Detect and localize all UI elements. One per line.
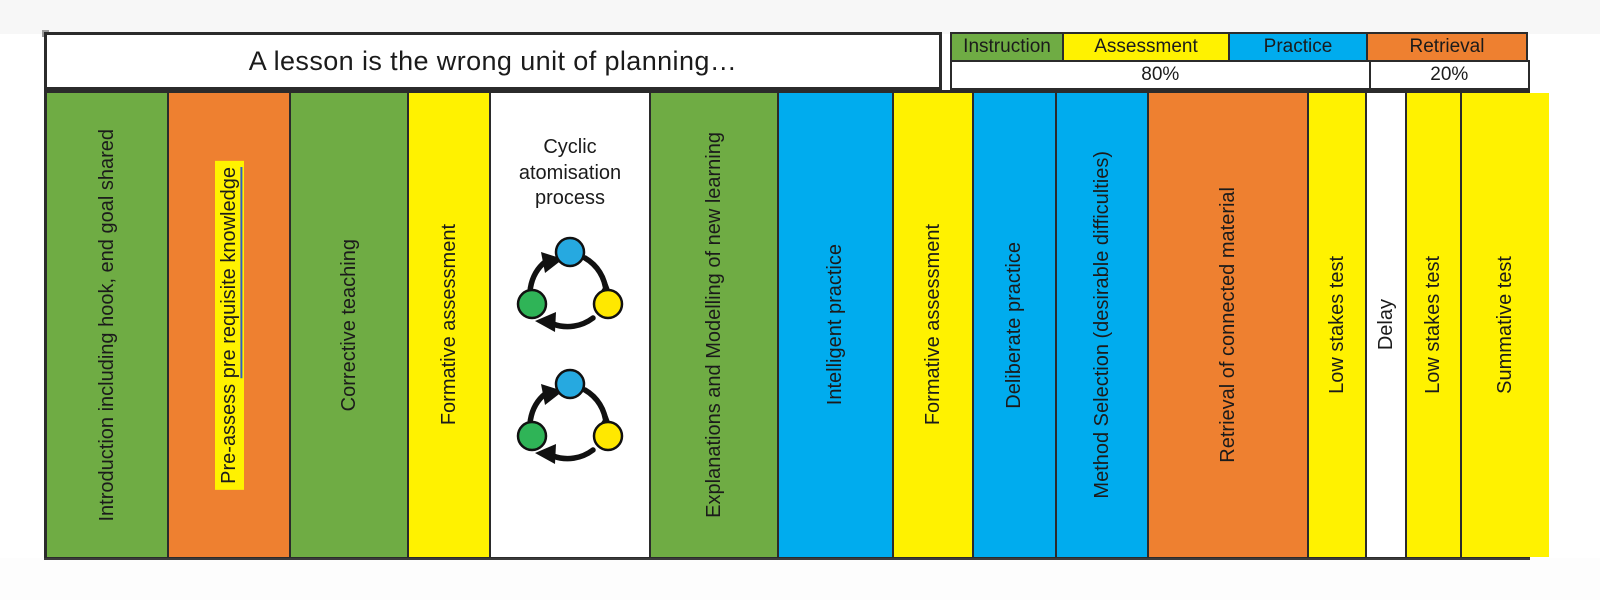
cyclic-atomisation-column: Cyclic atomisation process xyxy=(491,93,649,557)
phase-column[interactable]: Deliberate practice xyxy=(974,93,1057,557)
legend-percentage-twenty: 20% xyxy=(1369,60,1530,90)
cyclic-process-diagram xyxy=(511,232,629,350)
legend-category-row: InstructionAssessmentPracticeRetrieval xyxy=(950,32,1530,62)
legend-percentage-label: 80% xyxy=(1141,64,1179,86)
slide-canvas: A lesson is the wrong unit of planning… … xyxy=(0,0,1600,600)
phase-column[interactable]: Pre-assess pre requisite knowledge xyxy=(169,93,291,557)
phase-column-strip: Introduction including hook, end goal sh… xyxy=(44,90,1530,560)
phase-column[interactable]: Summative test xyxy=(1462,93,1549,557)
legend-percentage-row: 80%20% xyxy=(950,60,1530,90)
legend-item-retrieval: Retrieval xyxy=(1366,32,1528,62)
phase-column-label: Introduction including hook, end goal sh… xyxy=(95,129,120,522)
legend-item-label: Assessment xyxy=(1094,36,1197,58)
phase-column-label: Pre-assess pre requisite knowledge xyxy=(215,161,244,490)
phase-column[interactable]: Method Selection (desirable difficulties… xyxy=(1057,93,1149,557)
phase-column[interactable]: Low stakes test xyxy=(1309,93,1367,557)
slide-background-top xyxy=(0,0,1600,34)
phase-column[interactable]: Intelligent practice xyxy=(779,93,894,557)
phase-column[interactable]: Formative assessment xyxy=(894,93,974,557)
legend-item-assessment: Assessment xyxy=(1062,32,1230,62)
page-title-box: A lesson is the wrong unit of planning… xyxy=(44,32,942,90)
cyclic-process-diagram xyxy=(511,364,629,482)
underlined-text: pre requisite knowledge xyxy=(218,167,240,378)
cycle-diagram-group xyxy=(511,232,629,482)
phase-column-label: Formative assessment xyxy=(437,224,462,425)
phase-column[interactable]: Retrieval of connected material xyxy=(1149,93,1309,557)
baseline-rule xyxy=(44,558,1530,560)
phase-column-label: Summative test xyxy=(1493,256,1518,394)
phase-column-label: Retrieval of connected material xyxy=(1216,187,1241,463)
header-band: A lesson is the wrong unit of planning… … xyxy=(44,32,1530,90)
legend-percentage-label: 20% xyxy=(1430,64,1468,86)
legend-item-label: Retrieval xyxy=(1410,36,1485,58)
legend-item-label: Practice xyxy=(1264,36,1333,58)
phase-column[interactable]: Low stakes test xyxy=(1407,93,1462,557)
phase-column-label: Formative assessment xyxy=(921,224,946,425)
legend-item-label: Instruction xyxy=(963,36,1051,58)
slide-background-bottom xyxy=(0,558,1600,600)
phase-column-label: Explanations and Modelling of new learni… xyxy=(702,132,727,518)
phase-column-label: Low stakes test xyxy=(1325,256,1350,394)
legend-item-instruction: Instruction xyxy=(950,32,1064,62)
phase-column-label: Delay xyxy=(1374,299,1399,350)
page-title: A lesson is the wrong unit of planning… xyxy=(249,46,737,77)
phase-column-label: Deliberate practice xyxy=(1002,242,1027,409)
phase-column[interactable]: Explanations and Modelling of new learni… xyxy=(651,93,779,557)
phase-column-label: Method Selection (desirable difficulties… xyxy=(1090,151,1115,499)
phase-column-label: Low stakes test xyxy=(1421,256,1446,394)
phase-column[interactable]: Corrective teaching xyxy=(291,93,409,557)
phase-column[interactable]: Cyclic atomisation process xyxy=(491,93,651,557)
phase-column-label: Corrective teaching xyxy=(337,239,362,411)
cyclic-atomisation-title: Cyclic atomisation process xyxy=(491,135,649,212)
phase-column[interactable]: Introduction including hook, end goal sh… xyxy=(47,93,169,557)
phase-column[interactable]: Formative assessment xyxy=(409,93,491,557)
phase-column[interactable]: Delay xyxy=(1367,93,1407,557)
legend: InstructionAssessmentPracticeRetrieval 8… xyxy=(950,32,1530,90)
legend-percentage-eighty: 80% xyxy=(950,60,1371,90)
legend-item-practice: Practice xyxy=(1228,32,1368,62)
phase-column-label: Intelligent practice xyxy=(823,244,848,405)
